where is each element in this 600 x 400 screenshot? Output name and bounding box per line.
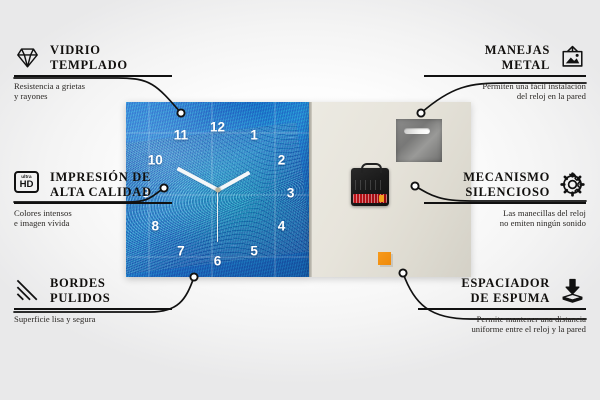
feature-subtitle-line1: Superficie lisa y segura bbox=[14, 314, 95, 324]
clock-numeral-6: 6 bbox=[214, 255, 222, 269]
feature-espaciador-espuma: ESPACIADOR DE ESPUMA Permite mantener un… bbox=[408, 276, 586, 335]
feature-subtitle-line2: uniforme entre el reloj y la pared bbox=[471, 324, 586, 334]
diamond-icon bbox=[14, 44, 41, 71]
feature-heading: BORDES PULIDOS bbox=[14, 276, 182, 305]
feature-subtitle-line2: y rayones bbox=[14, 91, 48, 101]
feature-title-line2: METAL bbox=[502, 58, 550, 72]
feature-subtitle: Colores intensos e imagen vívida bbox=[14, 208, 182, 229]
ultra-hd-icon-big-text: HD bbox=[20, 180, 34, 190]
feature-title-line1: ESPACIADOR bbox=[461, 276, 550, 290]
clock-numeral-10: 10 bbox=[148, 153, 163, 167]
feature-subtitle: Permiten una fácil instalación del reloj… bbox=[414, 81, 586, 102]
feature-subtitle-line1: Resistencia a grietas bbox=[14, 81, 85, 91]
feature-subtitle-line2: no emiten ningún sonido bbox=[500, 218, 586, 228]
feature-heading: ultra HD IMPRESIÓN DE ALTA CALIDAD bbox=[14, 170, 182, 199]
feature-heading: VIDRIO TEMPLADO bbox=[14, 43, 182, 72]
feature-subtitle-line2: del reloj en la pared bbox=[517, 91, 586, 101]
clock-numeral-3: 3 bbox=[287, 186, 295, 200]
feature-heading: MECANISMO SILENCIOSO bbox=[414, 170, 586, 199]
feature-title: VIDRIO TEMPLADO bbox=[50, 43, 128, 72]
feature-title-line2: SILENCIOSO bbox=[465, 185, 550, 199]
feature-heading: MANEJAS METAL bbox=[414, 43, 586, 72]
feature-impresion-alta-calidad: ultra HD IMPRESIÓN DE ALTA CALIDAD Color… bbox=[14, 170, 182, 229]
feature-title: MECANISMO SILENCIOSO bbox=[463, 170, 550, 199]
clock-numeral-5: 5 bbox=[250, 244, 258, 258]
feature-subtitle: Resistencia a grietas y rayones bbox=[14, 81, 182, 102]
ultra-hd-icon: ultra HD bbox=[14, 171, 41, 198]
feature-subtitle: Superficie lisa y segura bbox=[14, 314, 182, 325]
feature-title-line2: ALTA CALIDAD bbox=[50, 185, 152, 199]
clock-center-pin bbox=[215, 187, 220, 192]
foam-spacer-square bbox=[378, 252, 391, 265]
feature-subtitle: Permite mantener una distancia uniforme … bbox=[408, 314, 586, 335]
feature-title-line2: DE ESPUMA bbox=[471, 291, 550, 305]
clock-numeral-4: 4 bbox=[278, 220, 286, 234]
infographic-canvas: 12 1 2 3 4 5 6 7 8 9 10 11 bbox=[0, 0, 600, 400]
feature-bordes-pulidos: BORDES PULIDOS Superficie lisa y segura bbox=[14, 276, 182, 324]
keyhole-slot bbox=[404, 128, 430, 134]
clock-numeral-7: 7 bbox=[177, 244, 185, 258]
feature-manejas-metal: MANEJAS METAL Permiten una fácil instala… bbox=[414, 43, 586, 102]
feature-mecanismo-silencioso: MECANISMO SILENCIOSO bbox=[414, 170, 586, 229]
feature-title-line1: VIDRIO bbox=[50, 43, 101, 57]
feature-divider bbox=[418, 308, 586, 310]
mechanism-red-label bbox=[353, 194, 387, 203]
feature-title: BORDES PULIDOS bbox=[50, 276, 110, 305]
feature-subtitle-line1: Permite mantener una distancia bbox=[477, 314, 586, 324]
panel-edge bbox=[309, 102, 312, 277]
clock-mechanism-box bbox=[351, 168, 389, 206]
feature-title-line2: PULIDOS bbox=[50, 291, 110, 305]
clock-numeral-1: 1 bbox=[250, 129, 258, 143]
feature-divider bbox=[424, 202, 586, 204]
wall-hanging-frame-icon bbox=[559, 44, 586, 71]
feature-title: MANEJAS METAL bbox=[485, 43, 550, 72]
feature-subtitle-line1: Permiten una fácil instalación bbox=[482, 81, 586, 91]
metal-hanger-plate bbox=[396, 119, 442, 162]
feature-subtitle-line1: Las manecillas del reloj bbox=[503, 208, 586, 218]
feature-title: IMPRESIÓN DE ALTA CALIDAD bbox=[50, 170, 152, 199]
arrow-down-onto-block-icon bbox=[559, 277, 586, 304]
clock-hand-second bbox=[217, 190, 219, 242]
feature-title-line1: MECANISMO bbox=[463, 170, 550, 184]
feature-heading: ESPACIADOR DE ESPUMA bbox=[408, 276, 586, 305]
feature-divider bbox=[14, 75, 172, 77]
clock-numeral-12: 12 bbox=[210, 120, 225, 134]
feature-vidrio-templado: VIDRIO TEMPLADO Resistencia a grietas y … bbox=[14, 43, 182, 102]
feature-title-line1: MANEJAS bbox=[485, 43, 550, 57]
feature-title: ESPACIADOR DE ESPUMA bbox=[461, 276, 550, 305]
feature-subtitle-line1: Colores intensos bbox=[14, 208, 72, 218]
diagonal-stripes-icon bbox=[14, 277, 41, 304]
feature-title-line1: IMPRESIÓN DE bbox=[50, 170, 151, 184]
feature-title-line1: BORDES bbox=[50, 276, 106, 290]
clock-numeral-2: 2 bbox=[278, 153, 286, 167]
feature-divider bbox=[424, 75, 586, 77]
mechanism-hook bbox=[361, 163, 382, 173]
feature-divider bbox=[14, 308, 172, 310]
clock-numeral-11: 11 bbox=[174, 129, 188, 143]
feature-divider bbox=[14, 202, 172, 204]
feature-title-line2: TEMPLADO bbox=[50, 58, 128, 72]
mechanism-texture bbox=[355, 180, 385, 190]
feature-subtitle: Las manecillas del reloj no emiten ningú… bbox=[414, 208, 586, 229]
feature-subtitle-line2: e imagen vívida bbox=[14, 218, 70, 228]
gear-icon bbox=[559, 171, 586, 198]
mechanism-label-chip bbox=[379, 195, 384, 202]
